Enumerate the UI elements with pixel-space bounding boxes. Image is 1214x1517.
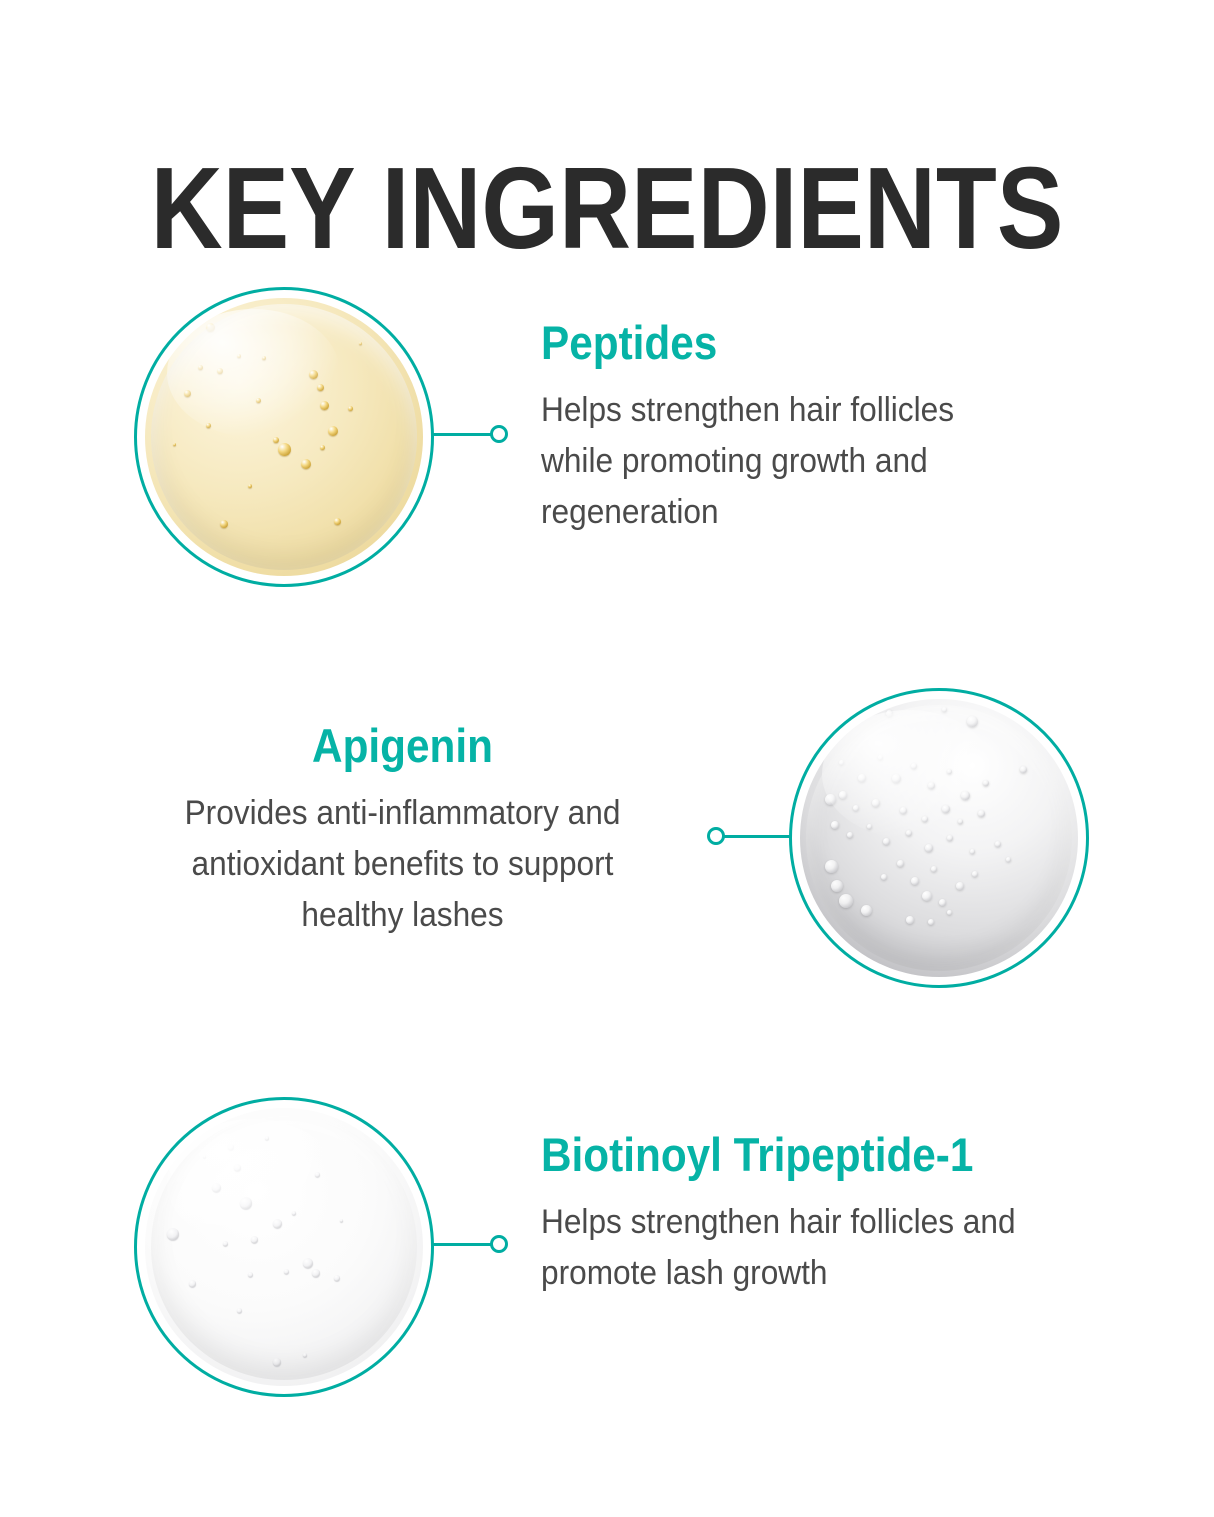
connector-peptides [432,424,512,444]
apigenin-gel-swatch [789,688,1089,988]
page-title: KEY INGREDIENTS [85,150,1129,266]
ingredient-text-biotinoyl-tripeptide-1: Biotinoyl Tripeptide-1 Helps strengthen … [541,1127,1071,1299]
connector-line [723,835,791,838]
ingredient-title-biotinoyl-tripeptide-1: Biotinoyl Tripeptide-1 [541,1127,1018,1183]
ingredient-text-peptides: Peptides Helps strengthen hair follicles… [541,315,1061,538]
ingredient-title-peptides: Peptides [541,315,1009,371]
connector-endpoint-dot [490,425,508,443]
connector-line [432,1243,494,1246]
connector-apigenin [707,826,797,846]
apigenin-highlight [822,710,994,838]
apigenin-gel-fill [800,699,1078,977]
peptides-gel-swatch [134,287,434,587]
peptides-highlight [167,309,339,437]
peptides-bubbles [145,298,423,576]
biotinoyl-bubbles [145,1108,423,1386]
biotinoyl-rim-shading [151,1114,417,1380]
biotinoyl-tripeptide-gel-swatch [134,1097,434,1397]
biotinoyl-highlight [167,1119,339,1247]
connector-line [432,433,494,436]
apigenin-bubbles [800,699,1078,977]
peptides-gel-fill [145,298,423,576]
ingredient-description-apigenin: Provides anti-inflammatory and antioxida… [149,788,656,941]
ingredient-description-peptides: Helps strengthen hair follicles while pr… [541,385,1025,538]
connector-endpoint-dot [490,1235,508,1253]
connector-biotinoyl-tripeptide-1 [432,1234,512,1254]
peptides-rim-shading [151,304,417,570]
ingredient-text-apigenin: Apigenin Provides anti-inflammatory and … [130,718,675,941]
biotinoyl-gel-fill [145,1108,423,1386]
ingredient-title-apigenin: Apigenin [157,718,648,774]
ingredient-description-biotinoyl-tripeptide-1: Helps strengthen hair follicles and prom… [541,1197,1034,1299]
apigenin-rim-shading [806,705,1072,971]
